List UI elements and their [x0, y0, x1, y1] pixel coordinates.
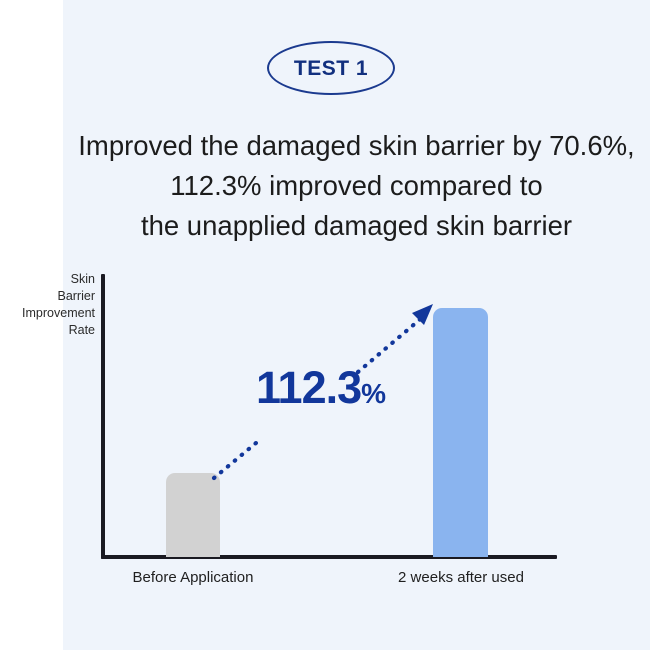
dotted-growth-arrow [0, 0, 650, 650]
improvement-callout-value: 112.3 [256, 362, 361, 413]
y-axis-label-line-1: Skin [0, 271, 95, 288]
x-tick-label-2-weeks-after-used: 2 weeks after used [381, 569, 541, 586]
x-tick-label-before-application: Before Application [113, 569, 273, 586]
arrow-segment-upper [358, 316, 424, 372]
y-axis-line [101, 274, 105, 559]
y-axis-label: Skin Barrier Improvement Rate [0, 271, 95, 339]
infographic-root: TEST 1 Improved the damaged skin barrier… [0, 0, 650, 650]
arrow-head-icon [412, 304, 433, 325]
y-axis-label-line-2: Barrier [0, 288, 95, 305]
improvement-callout: 112.3% [256, 365, 386, 410]
bar-chart: Skin Barrier Improvement Rate 112.3% Bef… [0, 0, 650, 650]
improvement-callout-unit: % [361, 378, 386, 409]
y-axis-label-line-4: Rate [0, 322, 95, 339]
bar-2-weeks-after-used [433, 308, 488, 557]
bar-before-application [166, 473, 220, 557]
arrow-segment-lower [214, 438, 262, 478]
y-axis-label-line-3: Improvement [0, 305, 95, 322]
